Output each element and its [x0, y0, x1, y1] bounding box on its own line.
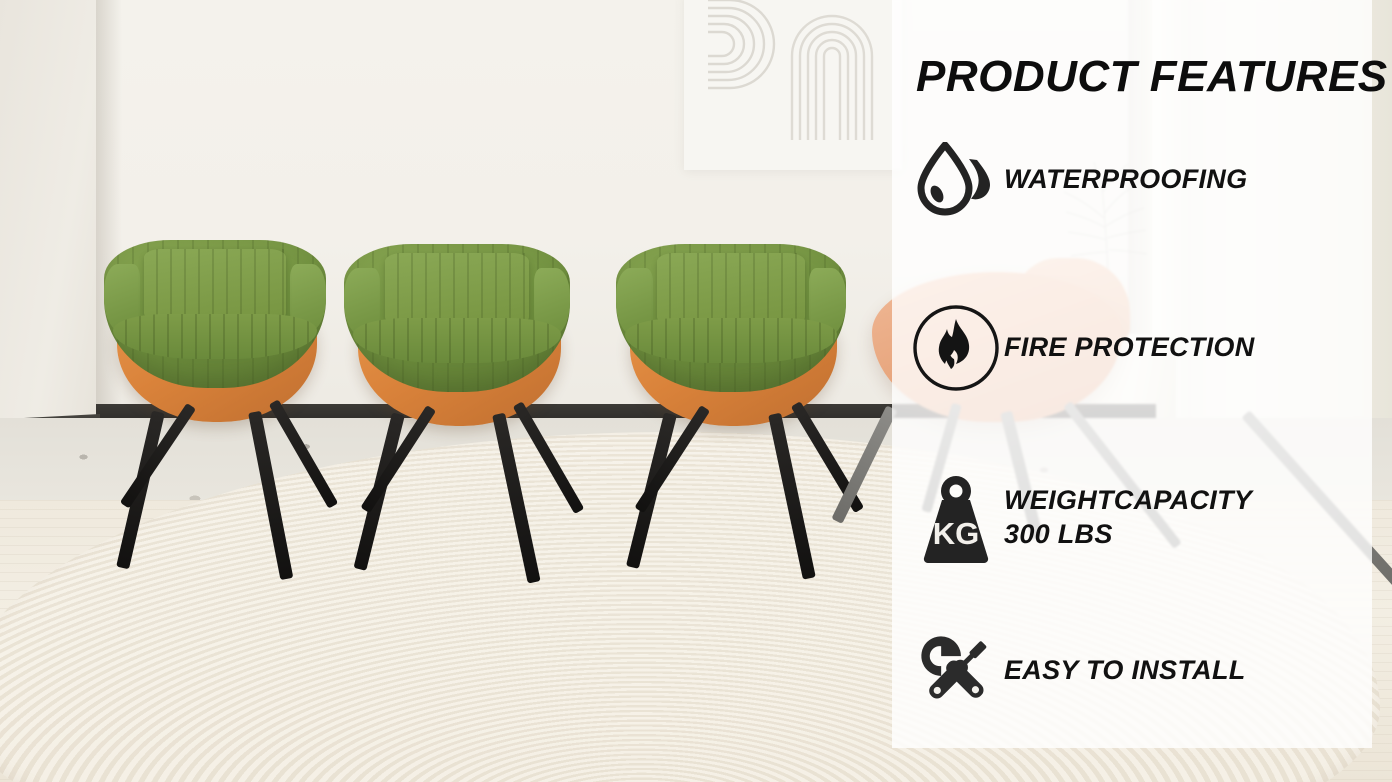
- feature-label-weight-capacity: WEIGHTCAPACITY 300 LBS: [1004, 484, 1252, 552]
- wall-left-panel: [0, 0, 104, 440]
- chair-2: [344, 244, 570, 434]
- water-drop-icon: [908, 142, 1004, 218]
- wrench-screwdriver-icon: [908, 628, 1004, 714]
- chair-1-upholstery: [104, 240, 326, 388]
- chair-3-backrest-stitching: [657, 253, 804, 324]
- chair-3-backrest: [657, 253, 804, 324]
- weight-capacity-line2: 300 LBS: [1004, 518, 1252, 552]
- feature-item-weight-capacity[interactable]: KG WEIGHTCAPACITY 300 LBS: [908, 472, 1252, 564]
- chair-2-seat: [353, 318, 561, 362]
- feature-label-easy-to-install: EASY TO INSTALL: [1004, 654, 1246, 688]
- feature-label-fire-protection: FIRE PROTECTION: [1004, 331, 1255, 365]
- chair-3-seat-stitching: [625, 318, 837, 362]
- chair-1-backrest: [144, 249, 286, 320]
- chair-3-seat: [625, 318, 837, 362]
- kg-badge-text: KG: [933, 516, 980, 551]
- chair-1-seat: [113, 314, 317, 358]
- chair-2-seat-stitching: [353, 318, 561, 362]
- chair-1-backrest-stitching: [144, 249, 286, 320]
- kg-weight-icon: KG: [908, 472, 1004, 564]
- feature-item-easy-to-install[interactable]: EASY TO INSTALL: [908, 628, 1246, 714]
- feature-item-fire-protection[interactable]: FIRE PROTECTION: [908, 302, 1255, 394]
- chair-1: [104, 240, 326, 430]
- chair-2-upholstery: [344, 244, 570, 392]
- flame-circle-icon: [908, 302, 1004, 394]
- weight-capacity-line1: WEIGHTCAPACITY: [1004, 485, 1252, 515]
- chair-3: [616, 244, 846, 434]
- feature-label-waterproofing: WATERPROOFING: [1004, 163, 1247, 197]
- feature-item-waterproofing[interactable]: WATERPROOFING: [908, 142, 1247, 218]
- chair-2-backrest-stitching: [385, 253, 530, 324]
- product-feature-banner: PRODUCT FEATURES WATERPROOFING FIRE PROT…: [0, 0, 1392, 782]
- chair-1-seat-stitching: [113, 314, 317, 358]
- arch-line-art-icon: [684, 0, 902, 170]
- page-title: PRODUCT FEATURES: [916, 52, 1388, 102]
- chair-3-upholstery: [616, 244, 846, 392]
- wall-art-frame: [684, 0, 902, 170]
- chair-2-backrest: [385, 253, 530, 324]
